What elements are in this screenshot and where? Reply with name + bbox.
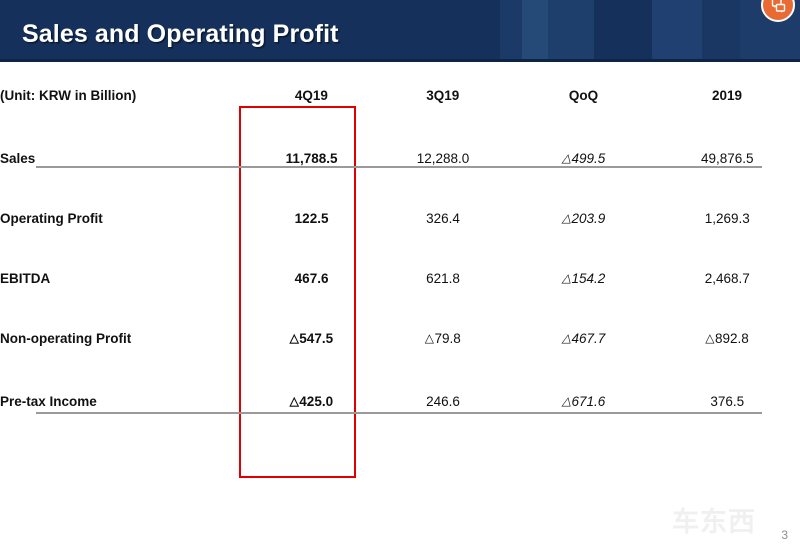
cell-operating-profit-qoq: △203.9: [513, 188, 654, 248]
row-label-sales: Sales: [0, 128, 250, 188]
cell-ebitda-4q19: 467.6: [250, 248, 372, 308]
cell-value: 1,269.3: [705, 211, 750, 226]
triangle-icon: △: [562, 394, 571, 408]
table-header-row: (Unit: KRW in Billion) 4Q19 3Q19 QoQ 201…: [0, 62, 800, 128]
table-row: Sales 11,788.5 12,288.0 △499.5 49,876.5: [0, 128, 800, 188]
header-stripe-4: [652, 0, 702, 62]
cell-value: 425.0: [299, 394, 333, 409]
header-stripe-0: [500, 0, 522, 62]
cell-sales-4q19: 11,788.5: [250, 128, 372, 188]
cell-value: 499.5: [572, 151, 606, 166]
cell-ebitda-qoq: △154.2: [513, 248, 654, 308]
header-stripe-1: [522, 0, 548, 62]
cell-value: 671.6: [572, 394, 606, 409]
slide-header-band: Sales and Operating Profit: [0, 0, 800, 62]
triangle-icon: △: [562, 151, 571, 165]
header-stripe-2: [548, 0, 594, 62]
cell-value: 154.2: [572, 271, 606, 286]
page-title: Sales and Operating Profit: [22, 20, 339, 49]
triangle-icon: △: [562, 271, 571, 285]
table-row: EBITDA 467.6 621.8 △154.2 2,468.7: [0, 248, 800, 308]
row-label-non-operating-profit: Non-operating Profit: [0, 308, 250, 368]
page-number: 3: [781, 528, 788, 542]
cell-non-operating-profit-4q19: △547.5: [250, 308, 372, 368]
unit-label: (Unit: KRW in Billion): [0, 62, 250, 128]
triangle-icon: △: [425, 331, 434, 345]
column-header-3q19: 3Q19: [372, 62, 513, 128]
watermark: 车东西: [672, 500, 756, 539]
cell-operating-profit-2019: 1,269.3: [654, 188, 800, 248]
cell-pre-tax-income-qoq: △671.6: [513, 368, 654, 434]
speech-bubble-logo-icon: [770, 0, 787, 14]
cell-value: 467.7: [572, 331, 606, 346]
cell-ebitda-3q19: 621.8: [372, 248, 513, 308]
row-label-ebitda: EBITDA: [0, 248, 250, 308]
cell-non-operating-profit-3q19: △79.8: [372, 308, 513, 368]
triangle-icon: △: [705, 331, 714, 345]
cell-value: 376.5: [710, 394, 744, 409]
financial-table-area: (Unit: KRW in Billion) 4Q19 3Q19 QoQ 201…: [0, 62, 800, 492]
cell-non-operating-profit-2019: △892.8: [654, 308, 800, 368]
cell-value: 79.8: [434, 331, 460, 346]
triangle-icon: △: [290, 331, 299, 345]
cell-operating-profit-3q19: 326.4: [372, 188, 513, 248]
cell-pre-tax-income-2019: 376.5: [654, 368, 800, 434]
cell-value: 621.8: [426, 271, 460, 286]
table-row: Non-operating Profit △547.5 △79.8 △467.7…: [0, 308, 800, 368]
cell-value: 11,788.5: [286, 151, 338, 166]
cell-sales-qoq: △499.5: [513, 128, 654, 188]
cell-value: 49,876.5: [701, 151, 754, 166]
row-label-operating-profit: Operating Profit: [0, 188, 250, 248]
triangle-icon: △: [562, 331, 571, 345]
cell-value: 467.6: [295, 271, 329, 286]
cell-operating-profit-4q19: 122.5: [250, 188, 372, 248]
column-header-4q19: 4Q19: [250, 62, 372, 128]
header-stripe-3: [594, 0, 652, 62]
triangle-icon: △: [290, 394, 299, 408]
triangle-icon: △: [562, 211, 571, 225]
cell-value: 246.6: [426, 394, 460, 409]
row-label-pre-tax-income: Pre-tax Income: [0, 368, 250, 434]
cell-ebitda-2019: 2,468.7: [654, 248, 800, 308]
table-row: Operating Profit 122.5 326.4 △203.9 1,26…: [0, 188, 800, 248]
column-header-2019: 2019: [654, 62, 800, 128]
cell-value: 547.5: [299, 331, 333, 346]
header-stripe-5: [702, 0, 740, 62]
cell-sales-3q19: 12,288.0: [372, 128, 513, 188]
cell-non-operating-profit-qoq: △467.7: [513, 308, 654, 368]
cell-sales-2019: 49,876.5: [654, 128, 800, 188]
cell-value: 12,288.0: [417, 151, 470, 166]
cell-value: 203.9: [572, 211, 606, 226]
column-header-qoq: QoQ: [513, 62, 654, 128]
cell-pre-tax-income-4q19: △425.0: [250, 368, 372, 434]
cell-pre-tax-income-3q19: 246.6: [372, 368, 513, 434]
cell-value: 122.5: [295, 211, 329, 226]
table-row: Pre-tax Income △425.0 246.6 △671.6 376.5: [0, 368, 800, 434]
cell-value: 892.8: [715, 331, 749, 346]
cell-value: 2,468.7: [705, 271, 750, 286]
financial-table: (Unit: KRW in Billion) 4Q19 3Q19 QoQ 201…: [0, 62, 800, 434]
cell-value: 326.4: [426, 211, 460, 226]
